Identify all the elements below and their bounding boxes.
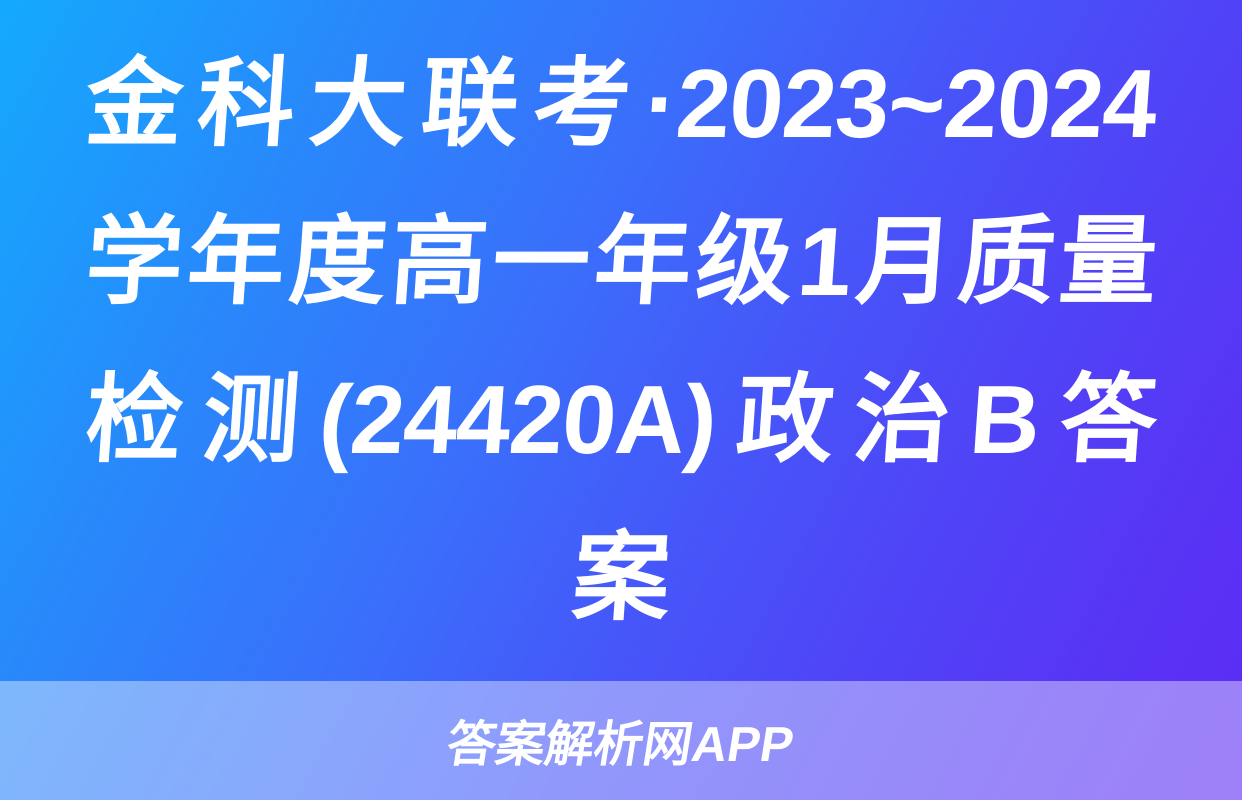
title-line-1: 金科大联考·2023~2024: [80, 25, 1161, 183]
app-brand-label: 答案解析网APP: [442, 705, 799, 776]
footer-band: 答案解析网APP: [0, 681, 1242, 800]
title-line-3: 检测(24420A)政治B答: [80, 341, 1161, 499]
title-line-2: 学年度高一年级1月质量: [80, 183, 1161, 341]
title-block: 金科大联考·2023~2024 学年度高一年级1月质量 检测(24420A)政治…: [0, 0, 1242, 681]
title-line-4: 案: [80, 499, 1161, 657]
promo-card: 金科大联考·2023~2024 学年度高一年级1月质量 检测(24420A)政治…: [0, 0, 1242, 800]
